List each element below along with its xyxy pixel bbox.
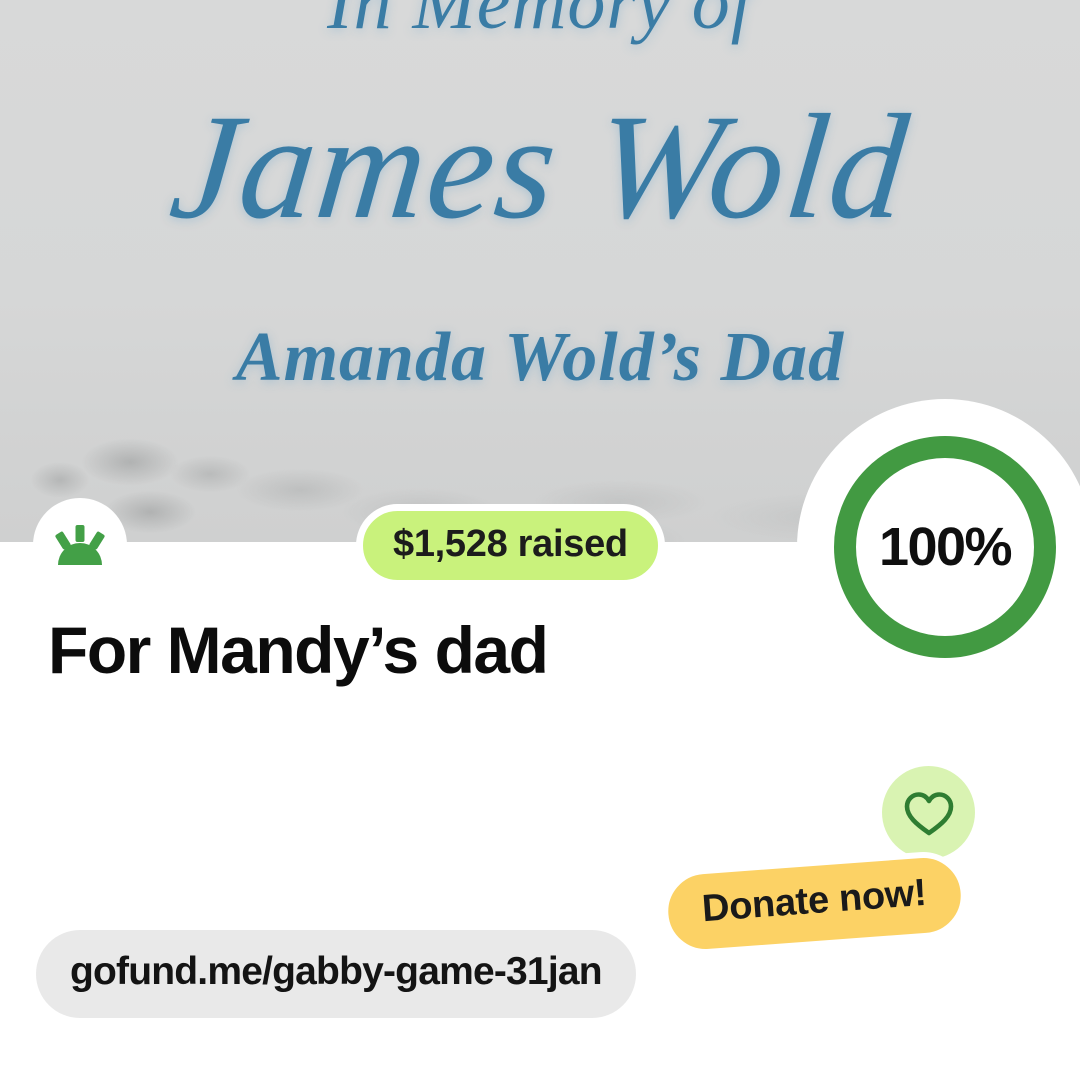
- gofundme-share-card: In Memory of James Wold Amanda Wold’s Da…: [0, 0, 1080, 1080]
- page-title: For Mandy’s dad: [48, 612, 547, 688]
- donate-now-button[interactable]: Donate now!: [659, 849, 969, 958]
- progress-percent-widget: 100%: [797, 399, 1080, 695]
- campaign-url-pill[interactable]: gofund.me/gabby-game-31jan: [36, 930, 636, 1018]
- heart-bubble: [882, 766, 975, 859]
- progress-ring: 100%: [834, 436, 1056, 658]
- progress-percent-label: 100%: [879, 516, 1011, 578]
- gofundme-logo-badge: [33, 498, 127, 592]
- memorial-relationship: Amanda Wold’s Dad: [0, 318, 1080, 398]
- memorial-name: James Wold: [0, 92, 1080, 242]
- gofundme-sunrise-icon: [52, 525, 108, 565]
- amount-raised-badge: $1,528 raised: [356, 504, 665, 587]
- heart-outline-icon: [902, 788, 956, 838]
- memorial-in-memory-of-line: In Memory of: [0, 0, 1080, 47]
